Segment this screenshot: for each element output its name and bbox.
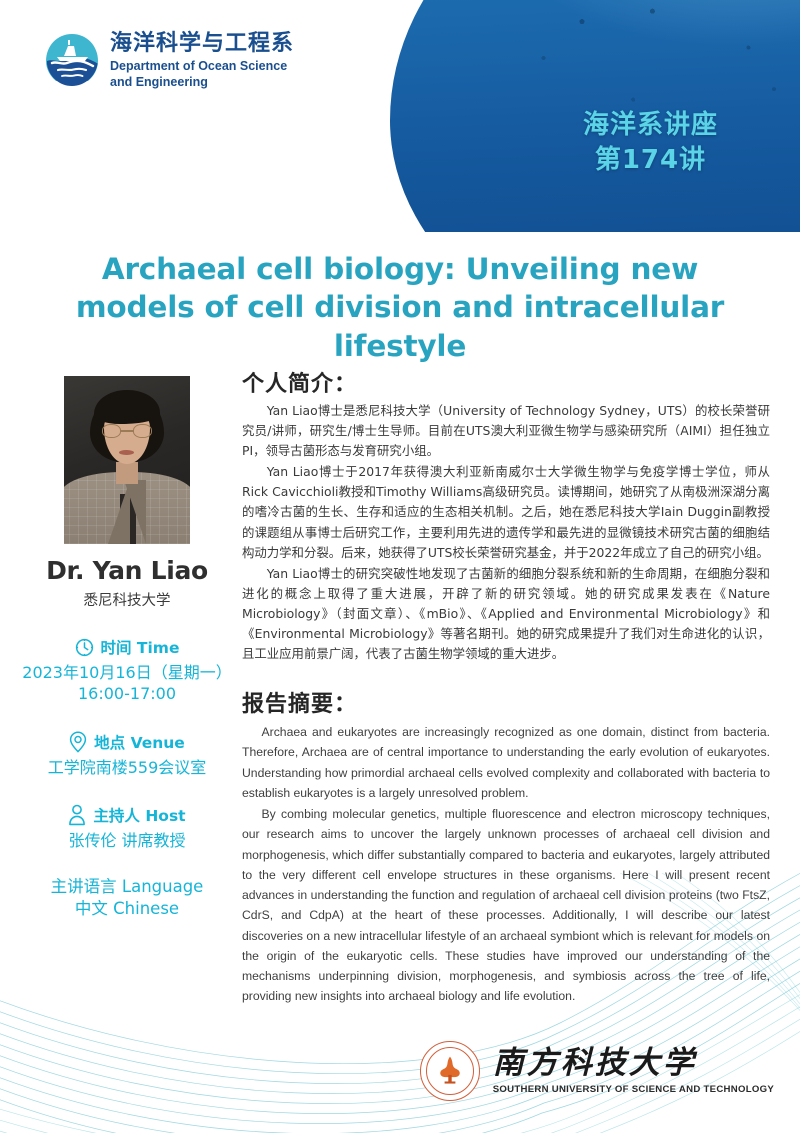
bio-paragraph: Yan Liao博士是悉尼科技大学（University of Technolo…: [242, 401, 770, 461]
time-range: 16:00-17:00: [16, 684, 238, 705]
speaker-portrait-photo: [64, 376, 190, 544]
host-label: 主持人 Host: [93, 804, 185, 826]
lecture-series-badge: 海洋系讲座 第174讲: [583, 108, 718, 178]
abstract-heading: 报告摘要：: [242, 686, 770, 718]
department-logo-text: 海洋科学与工程系 Department of Ocean Science and…: [110, 32, 294, 90]
sustech-logo: 南方科技大学 SOUTHERN UNIVERSITY OF SCIENCE AN…: [420, 1041, 774, 1101]
lecture-series-label: 海洋系讲座: [583, 108, 718, 143]
dept-name-en-line2: and Engineering: [110, 75, 294, 90]
speaker-name: Dr. Yan Liao: [16, 556, 238, 585]
bio-heading: 个人简介：: [242, 366, 770, 398]
clock-icon: [75, 638, 94, 657]
bio-paragraph: Yan Liao博士于2017年获得澳大利亚新南威尔士大学微生物学与免疫学博士学…: [242, 462, 770, 562]
venue-label: 地点 Venue: [94, 731, 185, 753]
speaker-info-column: Dr. Yan Liao 悉尼科技大学 时间 Time 2023年10月16日（…: [16, 370, 238, 920]
time-heading: 时间 Time: [16, 636, 238, 658]
abstract-paragraph: By combing molecular genetics, multiple …: [242, 804, 770, 1007]
lecture-number-label: 第174讲: [583, 143, 718, 178]
dept-name-cn: 海洋科学与工程系: [110, 32, 294, 57]
venue-value: 工学院南楼559会议室: [16, 758, 238, 779]
host-block: 主持人 Host 张传伦 讲席教授: [16, 804, 238, 852]
page-title: Archaeal cell biology: Unveiling new mod…: [40, 250, 760, 365]
host-heading: 主持人 Host: [16, 804, 238, 826]
time-label: 时间 Time: [101, 636, 180, 658]
university-name-cn: 南方科技大学: [493, 1048, 774, 1079]
university-name-en: SOUTHERN UNIVERSITY OF SCIENCE AND TECHN…: [493, 1085, 774, 1095]
dept-name-en-line1: Department of Ocean Science: [110, 59, 294, 74]
content-column: 个人简介： Yan Liao博士是悉尼科技大学（University of Te…: [242, 366, 770, 1007]
language-label: 主讲语言 Language: [16, 876, 238, 898]
venue-block: 地点 Venue 工学院南楼559会议室: [16, 731, 238, 779]
sustech-seal-icon: [420, 1041, 480, 1101]
ocean-dept-emblem-icon: [44, 32, 100, 90]
language-value: 中文 Chinese: [16, 898, 238, 920]
time-value: 2023年10月16日（星期一） 16:00-17:00: [16, 663, 238, 705]
venue-heading: 地点 Venue: [16, 731, 238, 753]
sustech-wordmark: 南方科技大学 SOUTHERN UNIVERSITY OF SCIENCE AN…: [493, 1048, 774, 1095]
time-block: 时间 Time 2023年10月16日（星期一） 16:00-17:00: [16, 636, 238, 705]
time-date: 2023年10月16日（星期一）: [16, 663, 238, 684]
person-icon: [68, 804, 86, 826]
speaker-affiliation: 悉尼科技大学: [16, 589, 238, 610]
abstract-paragraph: Archaea and eukaryotes are increasingly …: [242, 722, 770, 803]
department-logo: 海洋科学与工程系 Department of Ocean Science and…: [44, 32, 294, 90]
location-pin-icon: [69, 731, 87, 753]
language-block: 主讲语言 Language 中文 Chinese: [16, 876, 238, 920]
bio-paragraph: Yan Liao博士的研究突破性地发现了古菌新的细胞分裂系统和新的生命周期，在细…: [242, 564, 770, 664]
host-value: 张传伦 讲席教授: [16, 831, 238, 852]
